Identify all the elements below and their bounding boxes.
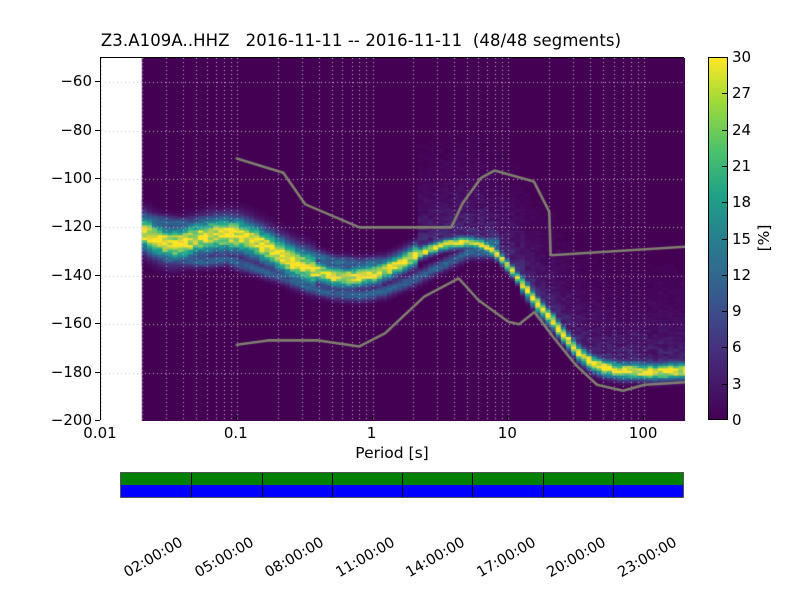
coverage-separator (402, 473, 403, 497)
y-tick-label: −120 (48, 217, 92, 235)
coverage-separator (472, 473, 473, 497)
time-coverage-bar (120, 472, 684, 498)
colorbar-label: [%] (755, 208, 773, 268)
coverage-separator (332, 473, 333, 497)
colorbar-tick-mark (722, 202, 728, 203)
x-tick-label: 100 (629, 424, 658, 442)
time-tick-label: 11:00:00 (333, 535, 397, 581)
colorbar-tick-mark (722, 311, 728, 312)
colorbar-tick-label: 6 (732, 338, 742, 356)
colorbar-tick-label: 3 (732, 375, 742, 393)
y-tick-label: −80 (48, 121, 92, 139)
colorbar-tick-label: 12 (732, 266, 751, 284)
x-tick-label: 1 (367, 424, 377, 442)
time-tick-label: 17:00:00 (474, 535, 538, 581)
y-tick-label: −160 (48, 314, 92, 332)
y-tick-label: −180 (48, 363, 92, 381)
x-tick-mark (507, 415, 508, 420)
time-tick-label: 14:00:00 (404, 535, 468, 581)
colorbar-tick-label: 30 (732, 48, 751, 66)
time-tick-label: 23:00:00 (615, 535, 679, 581)
time-tick-label: 08:00:00 (263, 535, 327, 581)
colorbar-tick-mark (722, 275, 728, 276)
colorbar-tick-mark (722, 239, 728, 240)
y-tick-mark (95, 178, 100, 179)
colorbar-ticks: 036912151821242730 (708, 57, 798, 420)
x-tick-label: 0.1 (224, 424, 248, 442)
colorbar-tick-mark (722, 384, 728, 385)
x-tick-mark (100, 415, 101, 420)
y-tick-label: −60 (48, 72, 92, 90)
colorbar-tick-label: 24 (732, 121, 751, 139)
colorbar-tick-label: 18 (732, 193, 751, 211)
y-tick-label: −100 (48, 169, 92, 187)
colorbar-tick-label: 9 (732, 302, 742, 320)
colorbar-tick-label: 21 (732, 157, 751, 175)
x-tick-label: 0.01 (83, 424, 116, 442)
colorbar-tick-mark (722, 93, 728, 94)
y-axis-ticks: −60−80−100−120−140−160−180−200 (0, 57, 100, 420)
y-tick-mark (95, 275, 100, 276)
coverage-separator (191, 473, 192, 497)
figure-title: Z3.A109A..HHZ 2016-11-11 -- 2016-11-11 (… (0, 31, 722, 50)
colorbar-tick-label: 0 (732, 411, 742, 429)
time-tick-label: 02:00:00 (122, 535, 186, 581)
y-tick-mark (95, 130, 100, 131)
x-tick-mark (372, 415, 373, 420)
y-tick-label: −140 (48, 266, 92, 284)
y-tick-mark (95, 372, 100, 373)
colorbar-tick-label: 15 (732, 230, 751, 248)
coverage-separator (262, 473, 263, 497)
colorbar-tick-mark (722, 130, 728, 131)
x-tick-mark (643, 415, 644, 420)
x-tick-label: 10 (498, 424, 517, 442)
x-axis-label: Period [s] (100, 444, 684, 462)
y-tick-mark (95, 323, 100, 324)
y-tick-mark (95, 226, 100, 227)
ppsd-axes (100, 57, 684, 420)
colorbar-tick-label: 27 (732, 84, 751, 102)
colorbar-tick-mark (722, 166, 728, 167)
coverage-separator (543, 473, 544, 497)
x-tick-mark (236, 415, 237, 420)
coverage-separator (613, 473, 614, 497)
noise-model-curves (101, 58, 685, 421)
time-tick-label: 20:00:00 (545, 535, 609, 581)
y-tick-mark (95, 81, 100, 82)
colorbar-tick-mark (722, 347, 728, 348)
ppsd-figure: Z3.A109A..HHZ 2016-11-11 -- 2016-11-11 (… (0, 0, 800, 600)
time-tick-label: 05:00:00 (192, 535, 256, 581)
